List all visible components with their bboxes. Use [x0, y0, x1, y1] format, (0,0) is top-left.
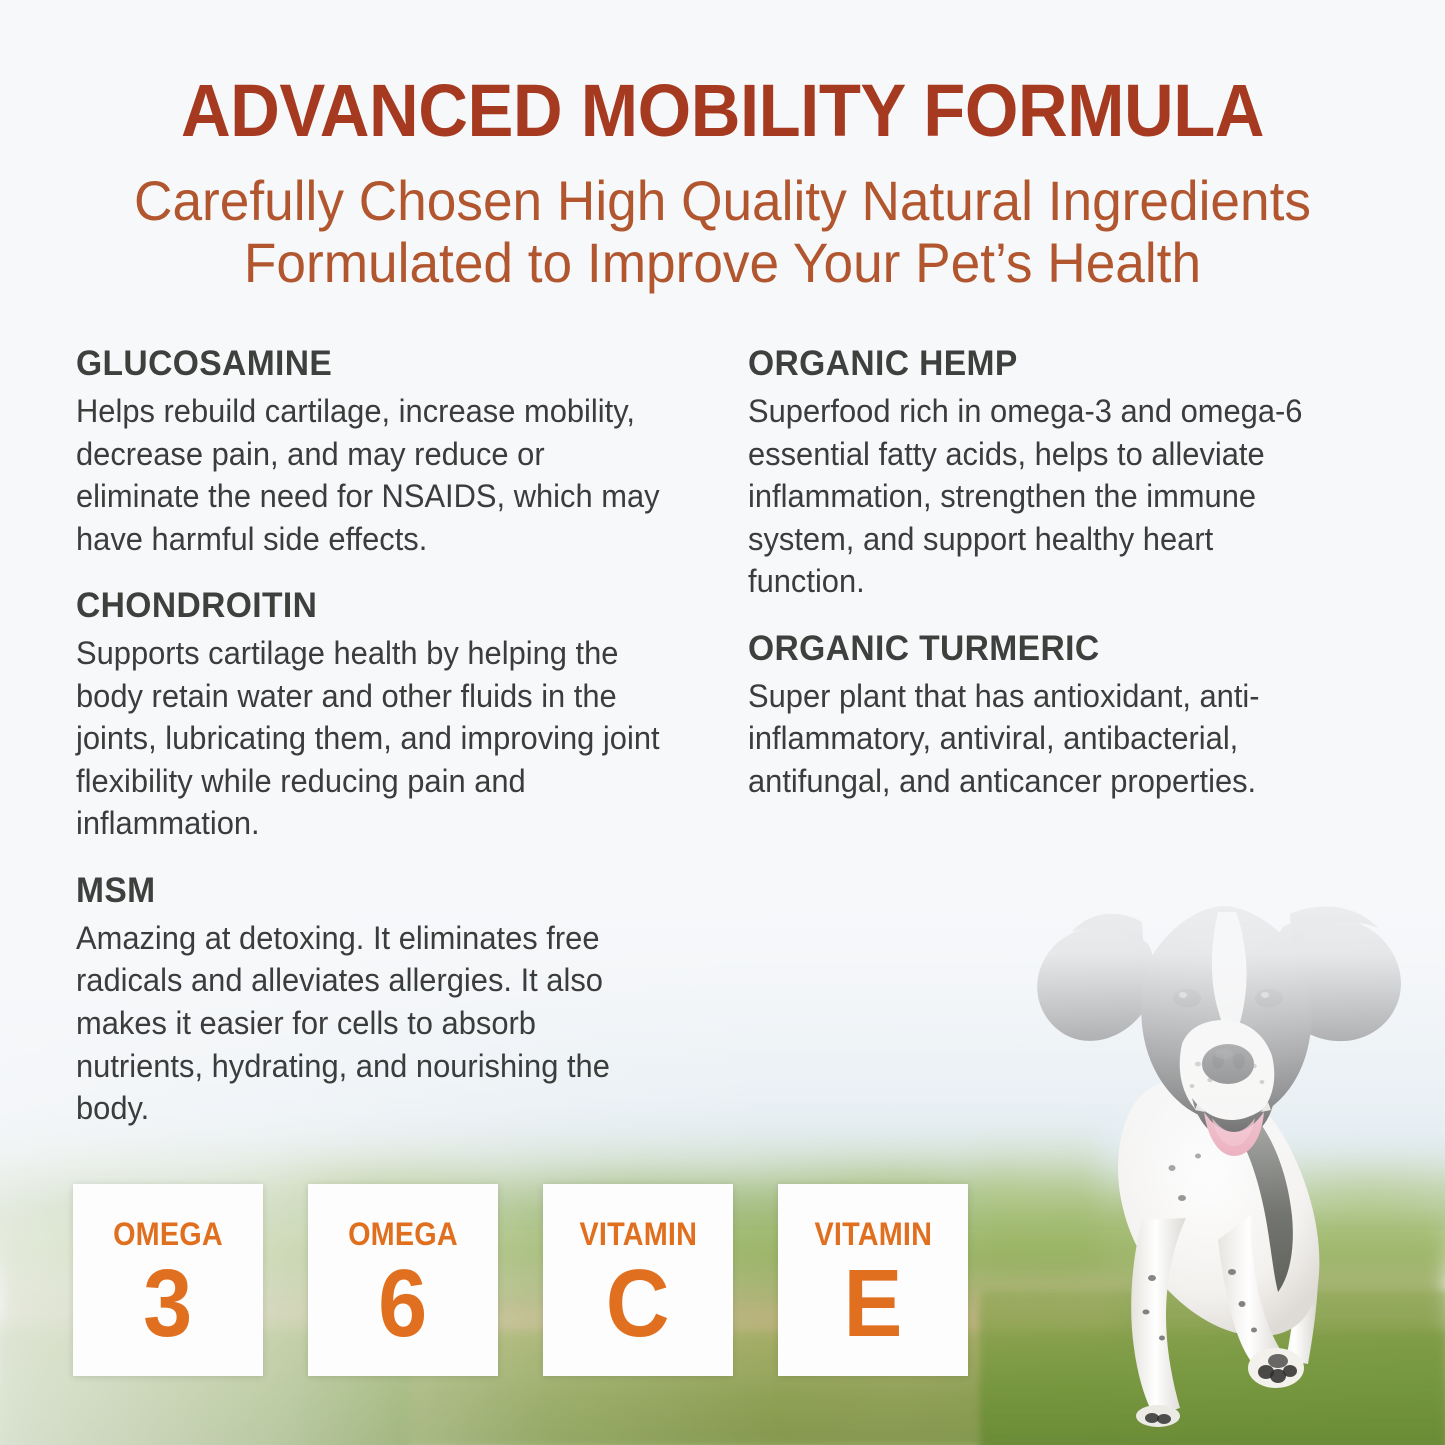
ingredient-name: CHONDROITIN — [76, 586, 662, 626]
page-title: ADVANCED MOBILITY FORMULA — [51, 74, 1395, 148]
badge-value: C — [606, 1254, 670, 1355]
badge-vitamin-e: VITAMIN E — [778, 1184, 968, 1376]
header: ADVANCED MOBILITY FORMULA Carefully Chos… — [0, 74, 1445, 293]
badge-omega-3: OMEGA 3 — [73, 1184, 263, 1376]
ingredient-column-right: ORGANIC HEMP Superfood rich in omega-3 a… — [748, 344, 1358, 828]
ingredient-column-left: GLUCOSAMINE Helps rebuild cartilage, inc… — [76, 344, 686, 1156]
badge-value: 6 — [378, 1254, 427, 1355]
ingredient-description: Superfood rich in omega-3 and omega-6 es… — [748, 390, 1337, 603]
badge-label: VITAMIN — [814, 1218, 932, 1250]
ingredient-name: ORGANIC TURMERIC — [748, 629, 1334, 669]
ingredient-organic-turmeric: ORGANIC TURMERIC Super plant that has an… — [748, 629, 1358, 803]
nutrient-badge-row: OMEGA 3 OMEGA 6 VITAMIN C VITAMIN E — [73, 1184, 968, 1376]
ingredient-chondroitin: CHONDROITIN Supports cartilage health by… — [76, 586, 686, 845]
ingredient-organic-hemp: ORGANIC HEMP Superfood rich in omega-3 a… — [748, 344, 1358, 603]
page-subtitle: Carefully Chosen High Quality Natural In… — [36, 170, 1409, 293]
badge-label: OMEGA — [348, 1218, 458, 1250]
ingredient-name: ORGANIC HEMP — [748, 344, 1334, 384]
subtitle-line-2: Formulated to Improve Your Pet’s Health — [36, 232, 1409, 294]
ingredient-name: GLUCOSAMINE — [76, 344, 662, 384]
badge-value: E — [844, 1254, 903, 1355]
badge-omega-6: OMEGA 6 — [308, 1184, 498, 1376]
subtitle-line-1: Carefully Chosen High Quality Natural In… — [36, 170, 1409, 232]
badge-label: VITAMIN — [579, 1218, 697, 1250]
ingredient-description: Helps rebuild cartilage, increase mobili… — [76, 390, 665, 560]
ingredient-glucosamine: GLUCOSAMINE Helps rebuild cartilage, inc… — [76, 344, 686, 560]
ingredient-description: Super plant that has antioxidant, anti-i… — [748, 675, 1337, 803]
badge-label: OMEGA — [113, 1218, 223, 1250]
ingredient-description: Supports cartilage health by helping the… — [76, 632, 665, 845]
ingredient-description: Amazing at detoxing. It eliminates free … — [76, 917, 665, 1130]
badge-vitamin-c: VITAMIN C — [543, 1184, 733, 1376]
ingredient-msm: MSM Amazing at detoxing. It eliminates f… — [76, 871, 686, 1130]
ingredient-name: MSM — [76, 871, 662, 911]
badge-value: 3 — [143, 1254, 192, 1355]
product-infographic: ADVANCED MOBILITY FORMULA Carefully Chos… — [0, 0, 1445, 1445]
